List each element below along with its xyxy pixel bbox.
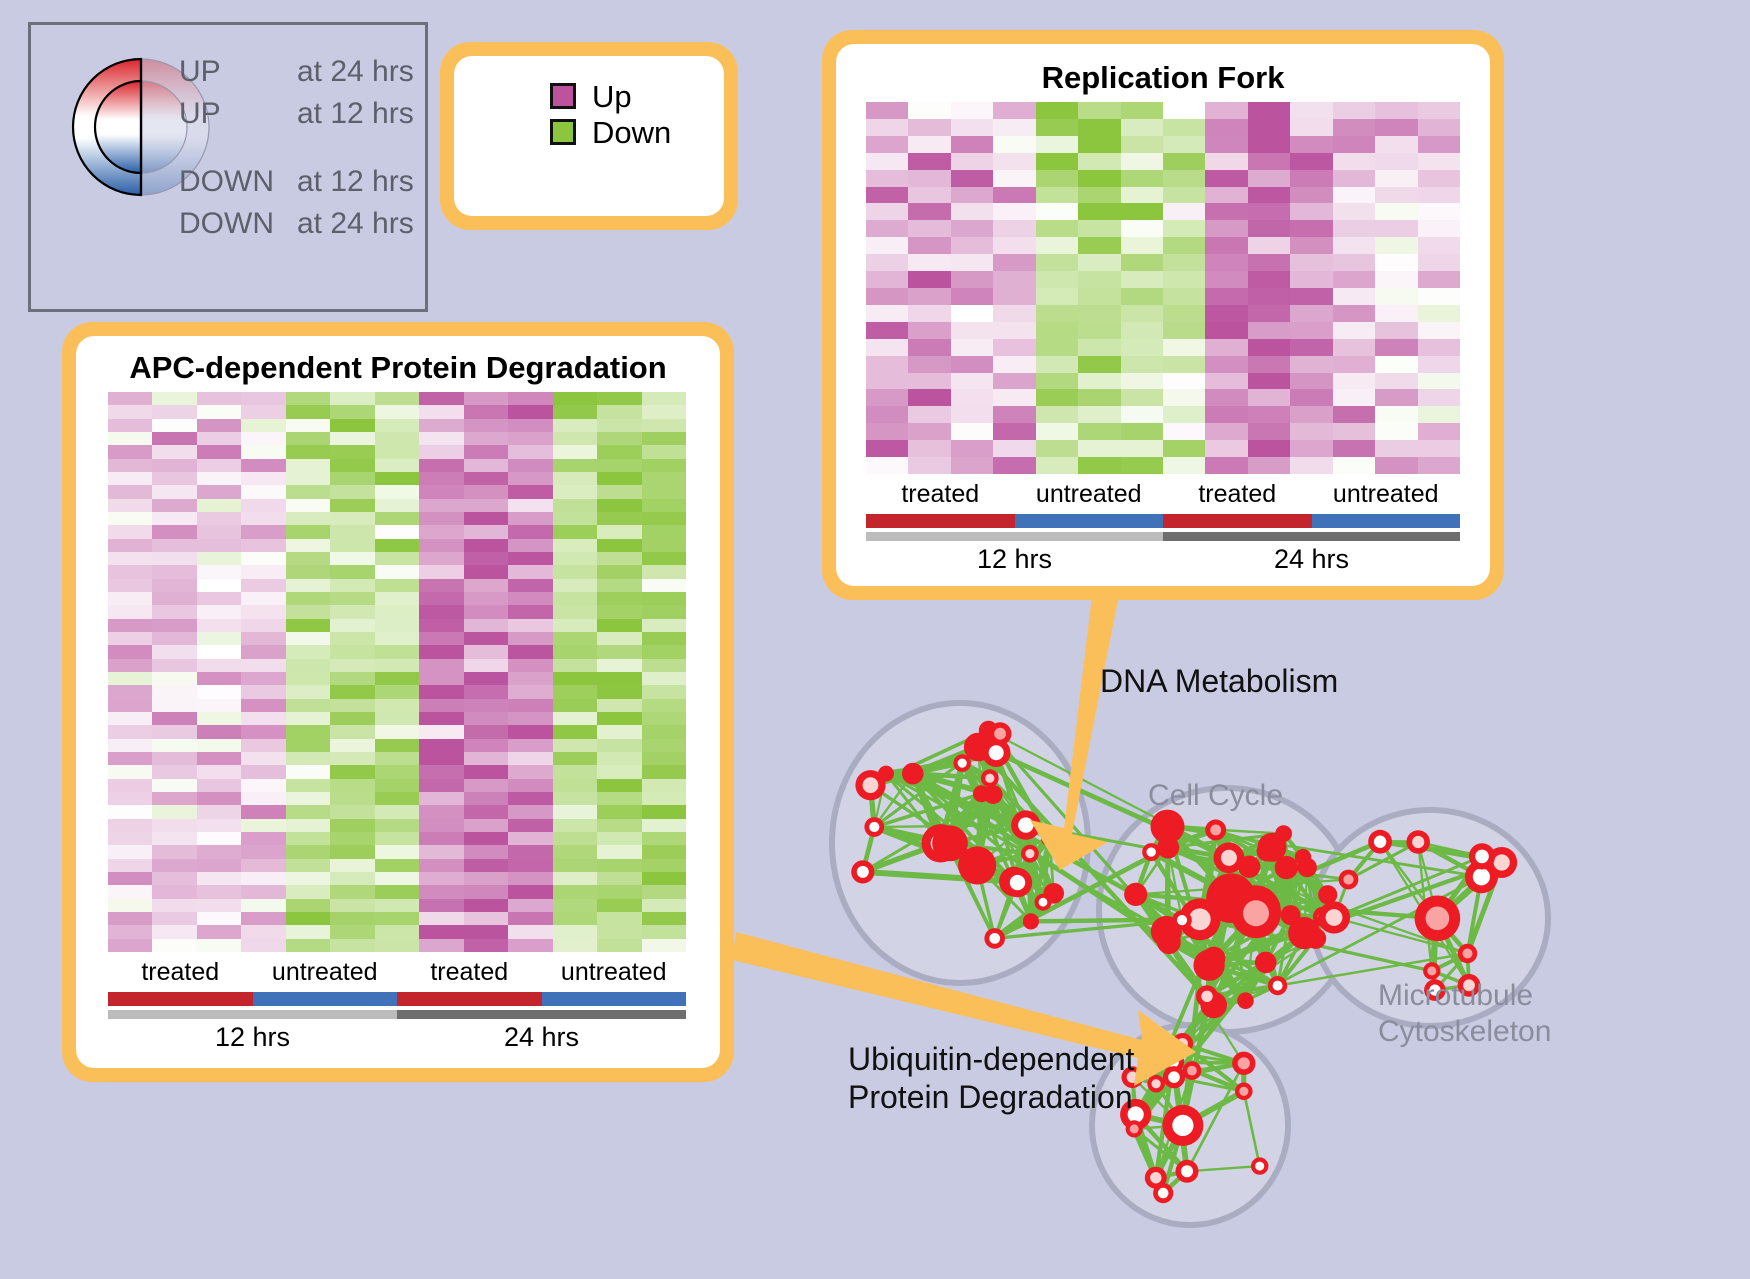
heatmap-cell <box>1205 220 1247 237</box>
heatmap-cell <box>1163 457 1205 474</box>
heatmap-cell <box>1036 305 1078 322</box>
network-node <box>1153 1183 1173 1203</box>
cluster-label-ubiquitin-degradation: Ubiquitin-dependent Protein Degradation <box>848 1040 1134 1117</box>
heatmap-cell <box>553 925 597 938</box>
heatmap-cell <box>1375 187 1417 204</box>
heatmap-cell <box>375 912 419 925</box>
apc-treatment-bars <box>108 992 686 1006</box>
heatmap-cell <box>464 592 508 605</box>
heatmap-cell <box>152 552 196 565</box>
network-node <box>855 770 885 800</box>
heatmap-cell <box>197 405 241 418</box>
heatmap-cell <box>419 445 463 458</box>
heatmap-cell <box>419 685 463 698</box>
heatmap-cell <box>464 445 508 458</box>
heatmap-cell <box>993 119 1035 136</box>
treatment-bar-segment <box>866 514 1015 528</box>
enrichment-network <box>790 600 1730 1279</box>
heatmap-cell <box>108 805 152 818</box>
heatmap-cell <box>197 725 241 738</box>
heatmap-cell <box>464 885 508 898</box>
heatmap-cell <box>108 392 152 405</box>
heatmap-cell <box>553 459 597 472</box>
heatmap-cell <box>241 539 285 552</box>
heatmap-cell <box>1290 170 1332 187</box>
heatmap-cell <box>330 925 374 938</box>
heatmap-cell <box>1248 136 1290 153</box>
key-row-list: UP at 24 hrs UP at 12 hrs DOWN at 12 hrs… <box>179 57 414 251</box>
heatmap-cell <box>1375 305 1417 322</box>
heatmap-cell <box>1163 356 1205 373</box>
heatmap-cell <box>993 254 1035 271</box>
heatmap-cell <box>108 925 152 938</box>
heatmap-cell <box>330 725 374 738</box>
heatmap-cell <box>152 685 196 698</box>
heatmap-cell <box>1205 423 1247 440</box>
network-node <box>1151 810 1185 844</box>
heatmap-cell <box>286 912 330 925</box>
heatmap-cell <box>508 752 552 765</box>
heatmap-cell <box>419 499 463 512</box>
heatmap-cell <box>241 512 285 525</box>
heatmap-cell <box>241 672 285 685</box>
heatmap-cell <box>908 220 950 237</box>
heatmap-cell <box>597 659 641 672</box>
heatmap-cell <box>375 672 419 685</box>
heatmap-cell <box>908 373 950 390</box>
heatmap-cell <box>152 699 196 712</box>
heatmap-cell <box>1375 271 1417 288</box>
heatmap-cell <box>1163 170 1205 187</box>
heatmap-cell <box>508 792 552 805</box>
heatmap-cell <box>993 457 1035 474</box>
heatmap-cell <box>375 619 419 632</box>
heatmap-cell <box>108 819 152 832</box>
heatmap-cell <box>330 592 374 605</box>
heatmap-cell <box>419 832 463 845</box>
heatmap-cell <box>152 525 196 538</box>
heatmap-cell <box>152 845 196 858</box>
heatmap-cell <box>1078 119 1120 136</box>
network-node <box>1183 1061 1202 1080</box>
heatmap-cell <box>553 779 597 792</box>
heatmap-cell <box>1205 153 1247 170</box>
heatmap-cell <box>1205 136 1247 153</box>
heatmap-cell <box>642 499 686 512</box>
heatmap-cell <box>642 752 686 765</box>
heatmap-cell <box>951 373 993 390</box>
heatmap-cell <box>197 445 241 458</box>
heatmap-cell <box>375 459 419 472</box>
heatmap-cell <box>642 419 686 432</box>
heatmap-cell <box>419 512 463 525</box>
heatmap-cell <box>1418 406 1460 423</box>
network-node <box>1176 1160 1199 1183</box>
heatmap-cell <box>1290 457 1332 474</box>
estrogen-legend-panel: Up Down <box>440 42 738 230</box>
heatmap-cell <box>1248 356 1290 373</box>
heatmap-cell <box>152 899 196 912</box>
heatmap-cell <box>108 405 152 418</box>
network-node <box>1235 1083 1253 1101</box>
heatmap-cell <box>1290 102 1332 119</box>
heatmap-cell <box>375 832 419 845</box>
heatmap-cell <box>1078 288 1120 305</box>
cluster-label-cell-cycle: Cell Cycle <box>1148 778 1283 814</box>
treatment-bar-segment <box>542 992 687 1006</box>
heatmap-cell <box>286 525 330 538</box>
heatmap-cell <box>642 699 686 712</box>
heatmap-cell <box>286 739 330 752</box>
heatmap-cell <box>375 499 419 512</box>
heatmap-cell <box>419 645 463 658</box>
heatmap-cell <box>597 392 641 405</box>
heatmap-cell <box>1036 254 1078 271</box>
heatmap-cell <box>553 899 597 912</box>
heatmap-cell <box>1248 389 1290 406</box>
heatmap-cell <box>1248 220 1290 237</box>
network-node <box>1162 1105 1203 1146</box>
time-bar-segment <box>866 532 1163 541</box>
heatmap-cell <box>642 805 686 818</box>
heatmap-cell <box>1078 271 1120 288</box>
heatmap-cell <box>286 685 330 698</box>
heatmap-cell <box>1121 153 1163 170</box>
network-node <box>1041 830 1058 847</box>
heatmap-cell <box>108 579 152 592</box>
heatmap-cell <box>286 725 330 738</box>
heatmap-cell <box>152 565 196 578</box>
heatmap-cell <box>553 885 597 898</box>
heatmap-cell <box>1248 271 1290 288</box>
heatmap-cell <box>597 779 641 792</box>
heatmap-cell <box>508 725 552 738</box>
heatmap-cell <box>108 939 152 952</box>
heatmap-cell <box>241 645 285 658</box>
network-node <box>1172 910 1192 930</box>
heatmap-cell <box>197 632 241 645</box>
heatmap-cell <box>866 102 908 119</box>
heatmap-cell <box>597 552 641 565</box>
heatmap-cell <box>1121 170 1163 187</box>
heatmap-cell <box>908 102 950 119</box>
heatmap-cell <box>597 832 641 845</box>
heatmap-cell <box>597 672 641 685</box>
heatmap-cell <box>553 445 597 458</box>
heatmap-cell <box>419 565 463 578</box>
heatmap-cell <box>597 885 641 898</box>
heatmap-cell <box>419 725 463 738</box>
heatmap-cell <box>108 419 152 432</box>
heatmap-cell <box>553 712 597 725</box>
heatmap-cell <box>597 859 641 872</box>
network-node <box>1469 843 1495 869</box>
heatmap-cell <box>993 288 1035 305</box>
time-label: 24 hrs <box>397 1022 686 1053</box>
heatmap-cell <box>1248 203 1290 220</box>
heatmap-cell <box>152 872 196 885</box>
heatmap-cell <box>508 432 552 445</box>
network-node <box>1172 1033 1193 1054</box>
heatmap-cell <box>553 565 597 578</box>
heatmap-cell <box>1121 136 1163 153</box>
heatmap-cell <box>197 525 241 538</box>
heatmap-cell <box>241 579 285 592</box>
heatmap-cell <box>1333 406 1375 423</box>
heatmap-cell <box>1375 254 1417 271</box>
heatmap-cell <box>508 672 552 685</box>
heatmap-cell <box>375 939 419 952</box>
heatmap-cell <box>1418 305 1460 322</box>
heatmap-cell <box>1248 153 1290 170</box>
heatmap-cell <box>1036 322 1078 339</box>
heatmap-cell <box>508 485 552 498</box>
heatmap-cell <box>597 485 641 498</box>
heatmap-cell <box>108 685 152 698</box>
heatmap-cell <box>108 592 152 605</box>
heatmap-cell <box>993 389 1035 406</box>
network-node <box>1237 992 1254 1009</box>
heatmap-cell <box>1163 373 1205 390</box>
heatmap-cell <box>642 579 686 592</box>
heatmap-cell <box>993 102 1035 119</box>
heatmap-cell <box>241 899 285 912</box>
heatmap-cell <box>951 288 993 305</box>
heatmap-cell <box>464 605 508 618</box>
heatmap-cell <box>197 645 241 658</box>
heatmap-cell <box>508 419 552 432</box>
heatmap-cell <box>1078 356 1120 373</box>
group-label: treated <box>1163 480 1312 509</box>
network-node <box>1196 985 1218 1007</box>
heatmap-cell <box>866 187 908 204</box>
heatmap-cell <box>508 832 552 845</box>
heatmap-cell <box>1333 305 1375 322</box>
heatmap-cell <box>642 619 686 632</box>
heatmap-cell <box>553 672 597 685</box>
heatmap-cell <box>642 872 686 885</box>
heatmap-cell <box>419 899 463 912</box>
heatmap-cell <box>108 445 152 458</box>
heatmap-cell <box>152 739 196 752</box>
heatmap-cell <box>1121 203 1163 220</box>
heatmap-cell <box>553 539 597 552</box>
heatmap-cell <box>1205 406 1247 423</box>
heatmap-cell <box>1036 237 1078 254</box>
heatmap-cell <box>1078 203 1120 220</box>
network-node <box>1021 845 1039 863</box>
heatmap-cell <box>330 619 374 632</box>
heatmap-cell <box>1121 406 1163 423</box>
key-direction: UP <box>179 99 297 129</box>
heatmap-cell <box>108 432 152 445</box>
heatmap-cell <box>1205 457 1247 474</box>
heatmap-cell <box>597 925 641 938</box>
heatmap-cell <box>152 859 196 872</box>
heatmap-cell <box>1163 389 1205 406</box>
panel-title: APC-dependent Protein Degradation <box>76 336 720 386</box>
heatmap-cell <box>1418 423 1460 440</box>
heatmap-cell <box>508 899 552 912</box>
heatmap-cell <box>866 254 908 271</box>
heatmap-cell <box>1163 288 1205 305</box>
heatmap-cell <box>241 632 285 645</box>
heatmap-cell <box>1290 254 1332 271</box>
heatmap-cell <box>197 685 241 698</box>
heatmap-cell <box>464 725 508 738</box>
heatmap-cell <box>642 885 686 898</box>
heatmap-cell <box>464 499 508 512</box>
down-colour-swatch <box>550 119 576 145</box>
heatmap-cell <box>330 685 374 698</box>
heatmap-cell <box>152 805 196 818</box>
heatmap-cell <box>1418 237 1460 254</box>
heatmap-cell <box>1418 220 1460 237</box>
heatmap-cell <box>241 565 285 578</box>
heatmap-cell <box>152 645 196 658</box>
heatmap-cell <box>1121 237 1163 254</box>
heatmap-cell <box>197 792 241 805</box>
heatmap-cell <box>1333 356 1375 373</box>
heatmap-cell <box>419 579 463 592</box>
heatmap-cell <box>908 136 950 153</box>
heatmap-cell <box>286 552 330 565</box>
heatmap-cell <box>152 712 196 725</box>
heatmap-cell <box>286 712 330 725</box>
heatmap-cell <box>375 699 419 712</box>
heatmap-cell <box>553 419 597 432</box>
heatmap-cell <box>241 459 285 472</box>
heatmap-cell <box>597 472 641 485</box>
heatmap-cell <box>1121 440 1163 457</box>
heatmap-cell <box>241 605 285 618</box>
heatmap-cell <box>419 552 463 565</box>
heatmap-cell <box>1375 423 1417 440</box>
network-node <box>953 754 971 772</box>
heatmap-cell <box>375 752 419 765</box>
heatmap-cell <box>508 659 552 672</box>
heatmap-cell <box>642 912 686 925</box>
heatmap-cell <box>553 552 597 565</box>
heatmap-cell <box>330 405 374 418</box>
heatmap-cell <box>152 392 196 405</box>
heatmap-cell <box>993 271 1035 288</box>
heatmap-cell <box>108 459 152 472</box>
heatmap-cell <box>1290 423 1332 440</box>
heatmap-cell <box>330 712 374 725</box>
heatmap-cell <box>1078 305 1120 322</box>
heatmap-cell <box>152 432 196 445</box>
network-node <box>1238 856 1260 878</box>
heatmap-cell <box>152 659 196 672</box>
heatmap-cell <box>553 792 597 805</box>
heatmap-cell <box>1290 373 1332 390</box>
heatmap-cell <box>1078 220 1120 237</box>
heatmap-cell <box>1121 271 1163 288</box>
heatmap-cell <box>1163 254 1205 271</box>
heatmap-cell <box>375 792 419 805</box>
heatmap-cell <box>993 440 1035 457</box>
heatmap-cell <box>330 485 374 498</box>
heatmap-cell <box>197 472 241 485</box>
heatmap-cell <box>375 472 419 485</box>
heatmap-cell <box>642 739 686 752</box>
heatmap-cell <box>108 779 152 792</box>
network-node <box>902 763 924 785</box>
heatmap-cell <box>642 432 686 445</box>
heatmap-cell <box>286 832 330 845</box>
heatmap-cell <box>597 419 641 432</box>
heatmap-cell <box>908 356 950 373</box>
heatmap-cell <box>1333 220 1375 237</box>
heatmap-cell <box>241 499 285 512</box>
heatmap-cell <box>464 565 508 578</box>
heatmap-cell <box>1333 440 1375 457</box>
heatmap-cell <box>464 872 508 885</box>
heatmap-cell <box>197 392 241 405</box>
heatmap-cell <box>1290 220 1332 237</box>
estrogen-legend-items: Up Down <box>454 78 724 150</box>
heatmap-cell <box>152 779 196 792</box>
heatmap-cell <box>197 539 241 552</box>
heatmap-cell <box>419 885 463 898</box>
replication-fork-panel: Replication Fork treateduntreatedtreated… <box>822 30 1504 600</box>
heatmap-cell <box>508 765 552 778</box>
heatmap-cell <box>286 472 330 485</box>
heatmap-cell <box>286 792 330 805</box>
heatmap-cell <box>375 512 419 525</box>
heatmap-cell <box>1036 356 1078 373</box>
heatmap-cell <box>286 899 330 912</box>
heatmap-cell <box>286 619 330 632</box>
heatmap-cell <box>908 170 950 187</box>
heatmap-cell <box>241 699 285 712</box>
heatmap-cell <box>241 792 285 805</box>
heatmap-cell <box>1375 237 1417 254</box>
heatmap-cell <box>464 899 508 912</box>
heatmap-cell <box>330 939 374 952</box>
heatmap-cell <box>419 779 463 792</box>
heatmap-cell <box>1163 102 1205 119</box>
heatmap-cell <box>375 405 419 418</box>
heatmap-cell <box>1078 373 1120 390</box>
network-node <box>1415 896 1461 942</box>
heatmap-cell <box>1248 440 1290 457</box>
network-node <box>984 928 1005 949</box>
heatmap-cell <box>464 792 508 805</box>
heatmap-cell <box>1333 102 1375 119</box>
heatmap-cell <box>597 619 641 632</box>
heatmap-cell <box>597 819 641 832</box>
heatmap-cell <box>375 525 419 538</box>
heatmap-cell <box>951 254 993 271</box>
heatmap-cell <box>553 632 597 645</box>
heatmap-cell <box>1418 153 1460 170</box>
heatmap-cell <box>1248 305 1290 322</box>
heatmap-cell <box>419 765 463 778</box>
heatmap-cell <box>993 305 1035 322</box>
heatmap-cell <box>375 539 419 552</box>
treatment-bar-segment <box>253 992 398 1006</box>
heatmap-cell <box>152 939 196 952</box>
heatmap-cell <box>1333 237 1375 254</box>
heatmap-cell <box>152 485 196 498</box>
panel-title: Replication Fork <box>836 44 1490 96</box>
heatmap-cell <box>1418 170 1460 187</box>
heatmap-cell <box>1375 389 1417 406</box>
heatmap-cell <box>508 499 552 512</box>
heatmap-cell <box>597 939 641 952</box>
